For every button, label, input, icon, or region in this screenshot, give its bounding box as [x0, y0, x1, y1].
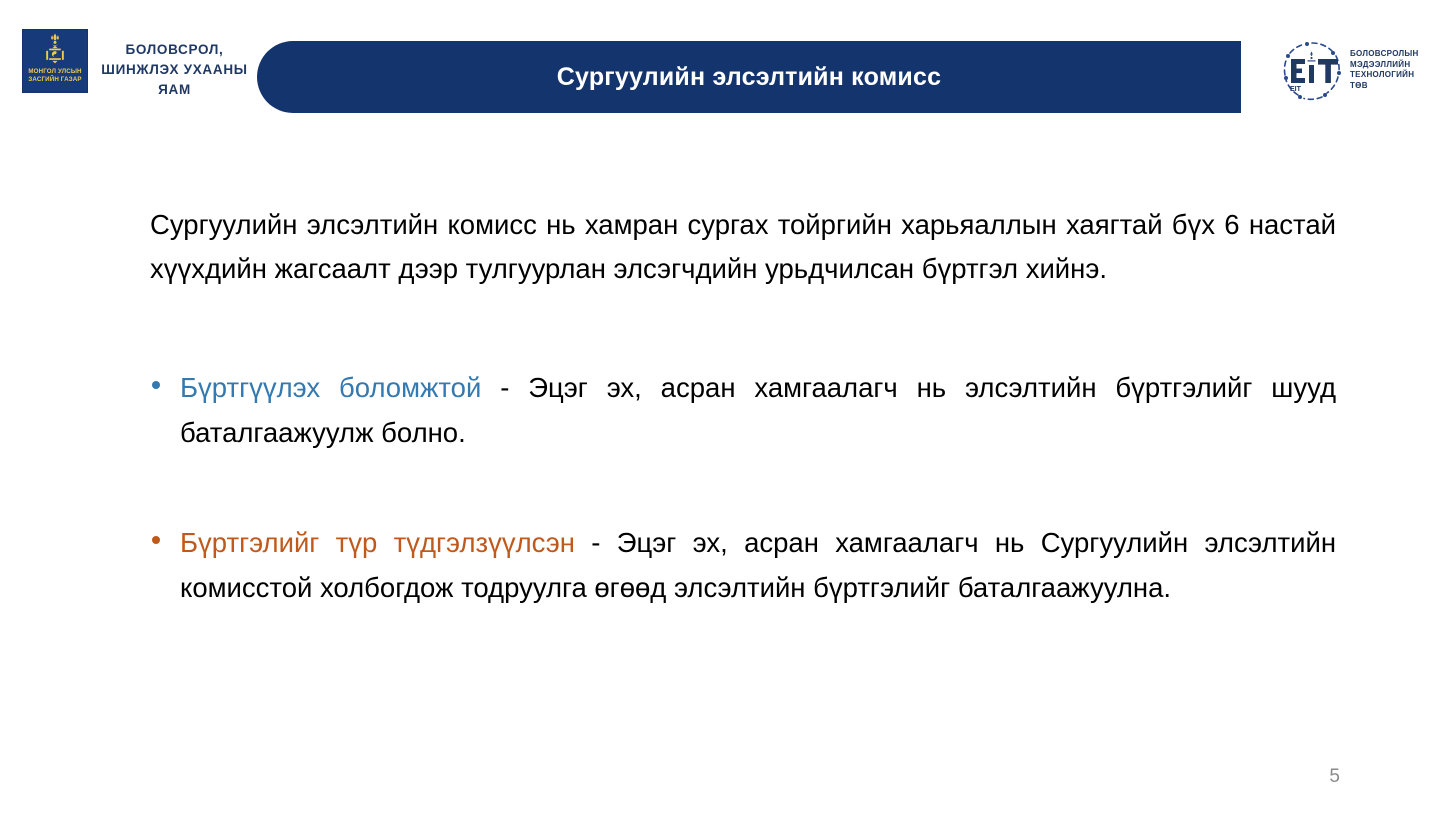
ministry-name-line3: ЯАМ [158, 82, 191, 97]
ministry-name-line1: БОЛОВСРОЛ, [125, 42, 223, 57]
bullet-dot-icon [152, 381, 160, 389]
page-number: 5 [1329, 766, 1340, 788]
bullet-1-lead: Бүртгүүлэх боломжтой [180, 372, 481, 403]
government-logo-caption: МОНГОЛ УЛСЫН ЗАСГИЙН ГАЗАР [28, 68, 81, 84]
gov-logo-caption-line1: МОНГОЛ УЛСЫН [28, 68, 81, 75]
gov-logo-caption-line2: ЗАСГИЙН ГАЗАР [28, 76, 81, 83]
eit-logo-text: БОЛОВСРОЛЫН МЭДЭЭЛЛИЙН ТЕХНОЛОГИЙН ТӨВ [1350, 49, 1419, 91]
intro-paragraph: Сургуулийн элсэлтийн комисс нь хамран су… [150, 203, 1336, 291]
soyombo-emblem-icon [42, 33, 68, 67]
bullet-item-registered-allowed: Бүртгүүлэх боломжтой - Эцэг эх, асран ха… [150, 365, 1336, 455]
government-logo: МОНГОЛ УЛСЫН ЗАСГИЙН ГАЗАР [22, 29, 88, 93]
bullet-item-registration-suspended: Бүртгэлийг түр түдгэлзүүлсэн - Эцэг эх, … [150, 520, 1336, 610]
slide-header: МОНГОЛ УЛСЫН ЗАСГИЙН ГАЗАР БОЛОВСРОЛ, ШИ… [0, 0, 1448, 125]
eit-line4: ТӨВ [1350, 81, 1368, 90]
bullet-dot-icon [152, 536, 160, 544]
eit-mark-sub: EIT [1290, 86, 1302, 93]
eit-line2: МЭДЭЭЛЛИЙН [1350, 60, 1410, 69]
eit-line1: БОЛОВСРОЛЫН [1350, 49, 1419, 58]
eit-line3: ТЕХНОЛОГИЙН [1350, 70, 1414, 79]
slide-title: Сургуулийн элсэлтийн комисс [557, 63, 941, 92]
slide-title-banner: Сургуулийн элсэлтийн комисс [257, 41, 1241, 113]
eit-emblem-icon: EIT [1276, 38, 1348, 104]
eit-logo: EIT БОЛОВСРОЛЫН МЭДЭЭЛЛИЙН ТЕХНОЛОГИЙН Т… [1276, 38, 1444, 104]
ministry-name-line2: ШИНЖЛЭХ УХААНЫ [101, 62, 247, 77]
ministry-name: БОЛОВСРОЛ, ШИНЖЛЭХ УХААНЫ ЯАМ [92, 40, 257, 100]
bullet-2-lead: Бүртгэлийг түр түдгэлзүүлсэн [180, 527, 575, 558]
